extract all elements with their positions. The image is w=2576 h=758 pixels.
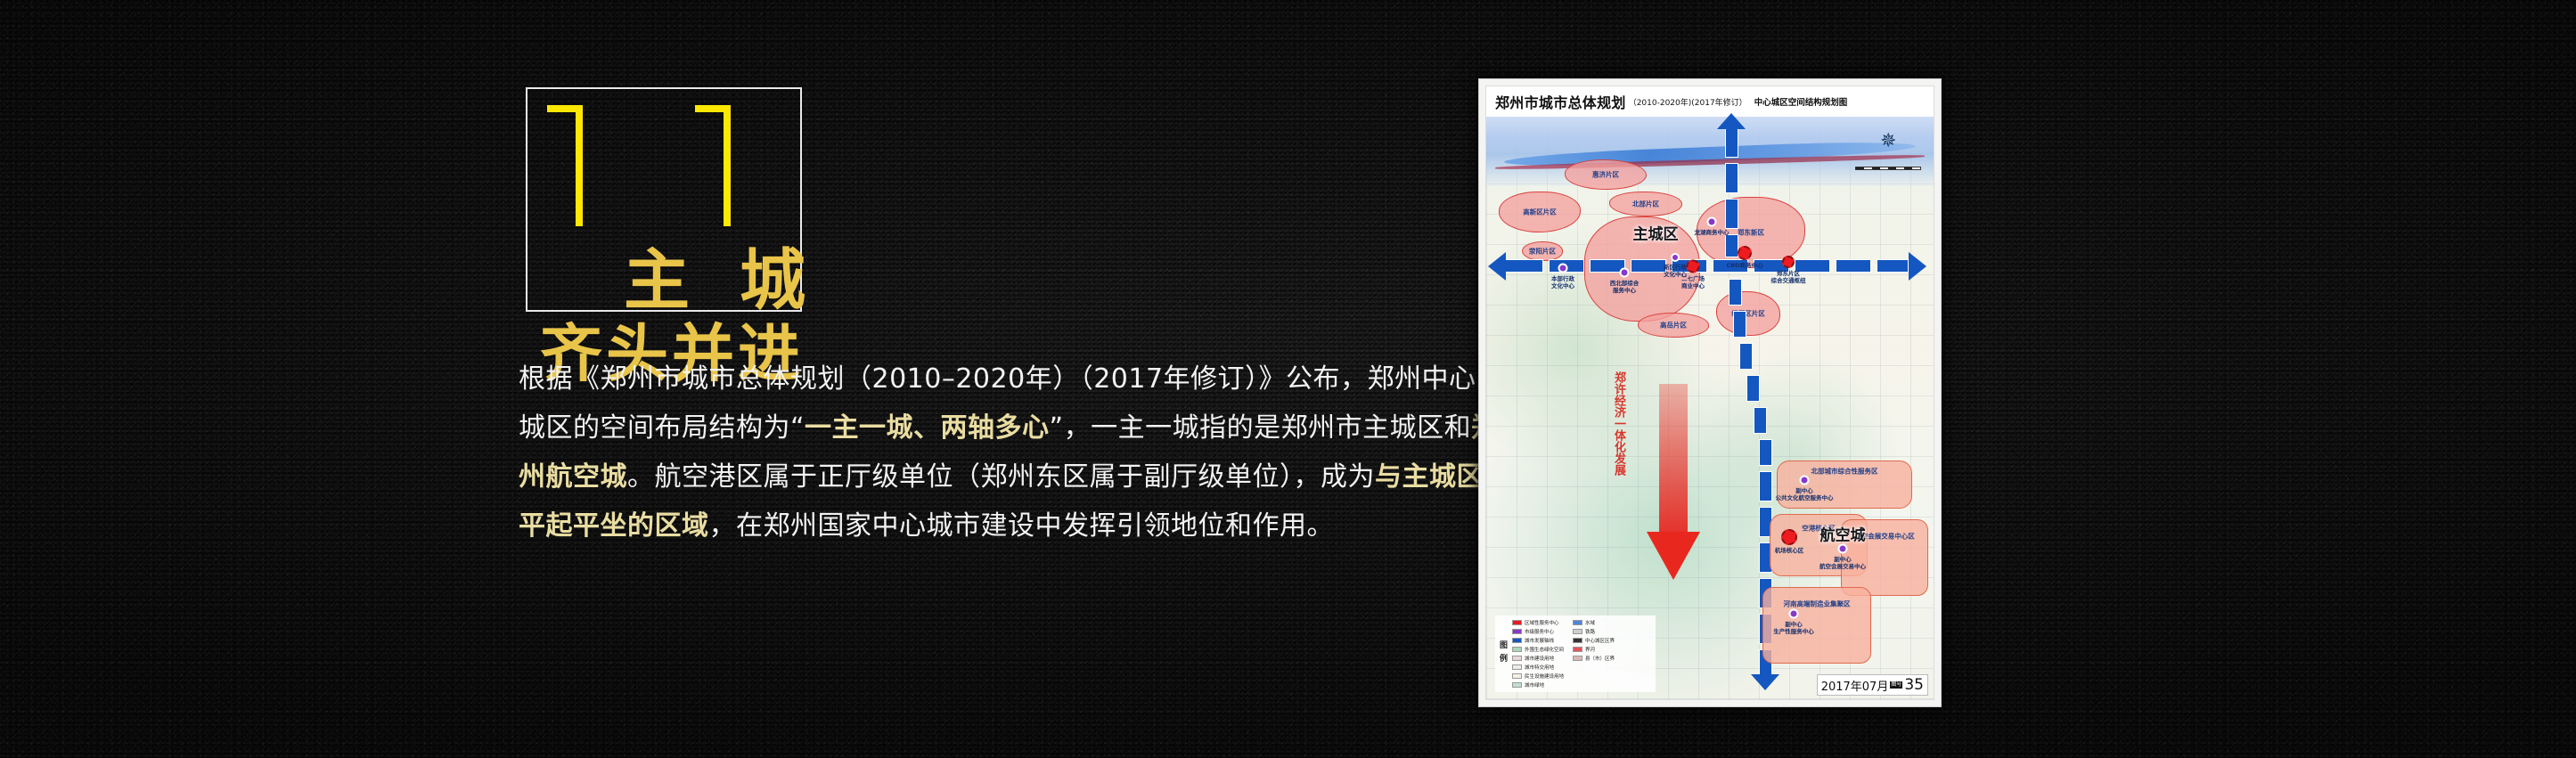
map-title-sub: （2010-2020年)(2017年修订） — [1629, 96, 1747, 108]
development-axis-segment — [1725, 163, 1738, 193]
service-center-label: 本部行政 文化中心 — [1551, 275, 1574, 289]
legend-item: 市级服务中心 — [1512, 628, 1564, 635]
legend-item: 城市建设用地 — [1512, 655, 1564, 662]
legend-item: 界河 — [1573, 646, 1615, 653]
city-service-center-node — [1558, 264, 1568, 273]
map-district-label: 高新区片区 — [1523, 208, 1557, 217]
legend-swatch — [1512, 664, 1522, 670]
legend-item-label: 水域 — [1585, 619, 1595, 626]
legend-swatch — [1512, 673, 1522, 679]
legend-swatch — [1512, 620, 1522, 625]
map-legend-title: 图例 — [1497, 640, 1509, 667]
legend-item: 城市特交用地 — [1512, 664, 1564, 671]
map-stamp-date: 2017年07月 — [1821, 677, 1889, 694]
map-district-label: 高岳片区 — [1660, 321, 1687, 330]
legend-swatch — [1573, 620, 1582, 625]
body-highlight-1: 一主一城、两轴多心 — [805, 412, 1050, 444]
city-service-center-node — [1620, 268, 1630, 278]
title-accent-stem-2 — [724, 105, 731, 226]
map-legend-column-right: 水域铁路中心城区区界界河县（市）区界 — [1573, 619, 1615, 689]
axis-arrow-south — [1751, 674, 1779, 690]
service-center-label: 副中心 航空会展交易中心 — [1820, 556, 1866, 570]
map-title-tail: 中心城区空间结构规划图 — [1754, 95, 1848, 108]
city-service-center-node — [1838, 544, 1848, 554]
title-accent-stem-1 — [576, 105, 583, 226]
development-axis-segment — [1729, 279, 1742, 306]
regional-service-center-node — [1738, 246, 1752, 260]
service-center-label: 副中心 生产性服务中心 — [1773, 621, 1814, 635]
map-canvas: ✵ 惠济片区高新区片区北部片区荥阳片区老城区郑东新区高岳片区经开区片区 北部城市… — [1486, 117, 1934, 699]
development-axis-segment — [1759, 439, 1772, 466]
map-district: 荥阳片区 — [1522, 241, 1563, 261]
body-paragraph: 根据《郑州市城市总体规划（2010–2020年）（2017年修订）》公布，郑州中… — [519, 355, 1499, 550]
development-axis-segment — [1746, 375, 1760, 402]
legend-item-label: 县（市）区界 — [1585, 655, 1615, 662]
map-legend-column-left: 区域性服务中心市级服务中心城市发展轴线外围生态绿化空间城市建设用地城市特交用地民… — [1512, 619, 1564, 689]
city-service-center-node — [1800, 476, 1810, 485]
development-axis-segment — [1836, 259, 1871, 273]
legend-item-label: 外围生态绿化空间 — [1525, 646, 1564, 653]
map-district: 北部片区 — [1609, 192, 1682, 216]
legend-item: 县（市）区界 — [1573, 655, 1615, 662]
legend-item-label: 市级服务中心 — [1525, 628, 1554, 635]
body-text-2: ”，一主一城指的是郑州市主城区和 — [1050, 412, 1472, 444]
legend-item-label: 民生设施建设用地 — [1525, 672, 1564, 680]
map-title-bar: 郑州市城市总体规划 （2010-2020年)(2017年修订） 中心城区空间结构… — [1486, 86, 1934, 117]
legend-swatch — [1512, 647, 1522, 652]
map-district-label: 荥阳片区 — [1529, 247, 1556, 257]
map-airport-district-label: 北部城市综合性服务区 — [1811, 467, 1878, 477]
regional-service-center-node — [1781, 529, 1797, 545]
legend-item-label: 区域性服务中心 — [1525, 619, 1559, 626]
legend-swatch — [1512, 656, 1522, 661]
compass-rose-icon: ✵ — [1880, 131, 1903, 161]
yellow-river-band — [1486, 117, 1934, 186]
integration-arrow-body — [1659, 384, 1688, 535]
development-axis-segment — [1754, 407, 1767, 434]
main-city-label: 主城区 — [1633, 222, 1679, 244]
legend-item: 中心城区区界 — [1573, 637, 1615, 644]
legend-item-label: 城市建设用地 — [1525, 655, 1554, 662]
legend-swatch — [1512, 629, 1522, 634]
legend-swatch — [1573, 656, 1582, 661]
axis-arrow-west — [1488, 252, 1506, 281]
integration-arrow-caption: 郑许经济一体化发展 — [1611, 371, 1625, 476]
development-axis-segment — [1877, 259, 1909, 273]
legend-item-label: 中心城区区界 — [1585, 637, 1615, 644]
legend-swatch — [1512, 682, 1522, 688]
axis-arrow-north — [1717, 113, 1746, 129]
development-axis-segment — [1725, 234, 1738, 257]
service-center-label: 副中心 公共文化航空服务中心 — [1776, 487, 1834, 501]
legend-swatch — [1573, 647, 1582, 652]
axis-arrow-east — [1909, 252, 1926, 281]
regional-service-center-node — [1782, 256, 1795, 268]
development-axis-segment — [1733, 311, 1746, 338]
body-text-6: ，在郑州国家中心城市建设中发挥引领地位和作用。 — [709, 510, 1335, 542]
regional-service-center-node — [1687, 260, 1700, 273]
map-airport-district-label: 河南高端制造业集聚区 — [1784, 599, 1851, 609]
service-center-label: 西北部综合 服务中心 — [1610, 280, 1640, 294]
legend-item: 民生设施建设用地 — [1512, 672, 1564, 680]
development-axis-segment — [1725, 199, 1738, 229]
development-axis-segment — [1631, 259, 1666, 273]
legend-swatch — [1573, 638, 1582, 643]
city-service-center-node — [1789, 609, 1799, 619]
legend-item: 城市绿地 — [1512, 681, 1564, 689]
service-center-label: 郑东片区 综合交通枢纽 — [1771, 270, 1806, 284]
title-char-cheng: 城 — [740, 248, 806, 314]
legend-swatch — [1573, 629, 1582, 634]
legend-swatch — [1512, 638, 1522, 643]
map-district: 经开区片区 — [1716, 291, 1780, 336]
development-axis-segment — [1759, 471, 1772, 501]
map-district-label: 郑东新区 — [1738, 228, 1764, 238]
map-inner: 郑州市城市总体规划 （2010-2020年)(2017年修订） 中心城区空间结构… — [1485, 86, 1934, 700]
map-title-main: 郑州市城市总体规划 — [1495, 91, 1626, 112]
map-image-card: 郑州市城市总体规划 （2010-2020年)(2017年修订） 中心城区空间结构… — [1478, 78, 1942, 707]
legend-item: 水域 — [1573, 619, 1615, 626]
service-center-label: CBD商务中心 — [1726, 262, 1762, 269]
city-service-center-node — [1671, 253, 1680, 262]
legend-item-label: 界河 — [1585, 646, 1595, 653]
service-center-label: 龙湖商务中心 — [1695, 229, 1730, 236]
legend-item: 铁路 — [1573, 628, 1615, 635]
integration-arrow-head — [1647, 532, 1700, 580]
map-stamp-tuhao: 图号 — [1890, 681, 1902, 689]
map-district-label: 惠济片区 — [1592, 170, 1619, 180]
legend-item-label: 城市发展轴线 — [1525, 637, 1554, 644]
title-char-zhu: 主 — [624, 248, 690, 314]
map-district: 高新区片区 — [1499, 192, 1581, 232]
legend-item-label: 铁路 — [1585, 628, 1595, 635]
map-stamp: 2017年07月 图号 35 — [1817, 674, 1928, 696]
map-district: 高岳片区 — [1638, 313, 1709, 338]
legend-item: 区域性服务中心 — [1512, 619, 1564, 626]
map-legend: 图例 区域性服务中心市级服务中心城市发展轴线外围生态绿化空间城市建设用地城市特交… — [1495, 615, 1656, 692]
title-card: 主 城 齐头并进 — [526, 87, 802, 312]
legend-item-label: 城市特交用地 — [1525, 664, 1554, 671]
map-airport-district: 北部城市综合性服务区 — [1777, 461, 1912, 509]
integration-arrow — [1647, 384, 1700, 589]
development-axis-segment — [1725, 127, 1738, 158]
legend-item: 城市发展轴线 — [1512, 637, 1564, 644]
service-center-label: 机场核心区 — [1775, 547, 1804, 554]
map-district: 惠济片区 — [1565, 159, 1647, 190]
aviation-city-label: 航空城 — [1820, 523, 1866, 545]
development-axis-segment — [1504, 259, 1543, 273]
service-center-label: 新区行政 文化中心 — [1664, 264, 1687, 278]
city-service-center-node — [1707, 217, 1717, 227]
legend-item: 外围生态绿化空间 — [1512, 646, 1564, 653]
body-text-4: 。航空港区属于正厅级单位（郑州东区属于副厅级单位），成为 — [627, 461, 1375, 493]
development-axis-segment — [1739, 343, 1753, 370]
map-scale-bar — [1855, 167, 1921, 170]
map-district-label: 北部片区 — [1632, 200, 1659, 209]
map-stamp-page: 35 — [1904, 676, 1924, 694]
legend-item-label: 城市绿地 — [1525, 681, 1544, 689]
